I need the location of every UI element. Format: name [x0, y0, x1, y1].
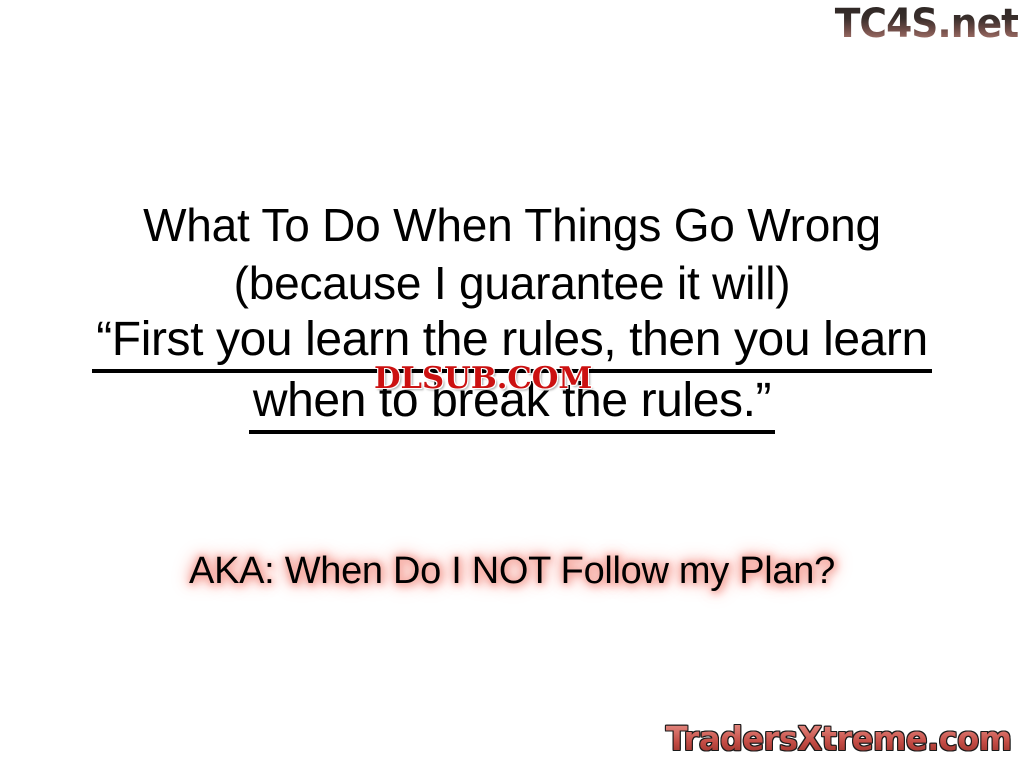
presentation-slide: TC4S.net What To Do When Things Go Wrong… [0, 0, 1024, 768]
title-line-2: (because I guarantee it will) [0, 254, 1024, 312]
brand-logo-tradersxtreme: TradersXtreme.com [666, 720, 1012, 758]
dlsub-watermark: DLSUB.COM [374, 362, 592, 396]
slide-subtitle-aka: AKA: When Do I NOT Follow my Plan? [0, 548, 1024, 594]
slide-title-block: What To Do When Things Go Wrong (because… [0, 196, 1024, 434]
title-line-1: What To Do When Things Go Wrong [0, 196, 1024, 254]
site-logo-tc4s: TC4S.net [835, 2, 1018, 46]
